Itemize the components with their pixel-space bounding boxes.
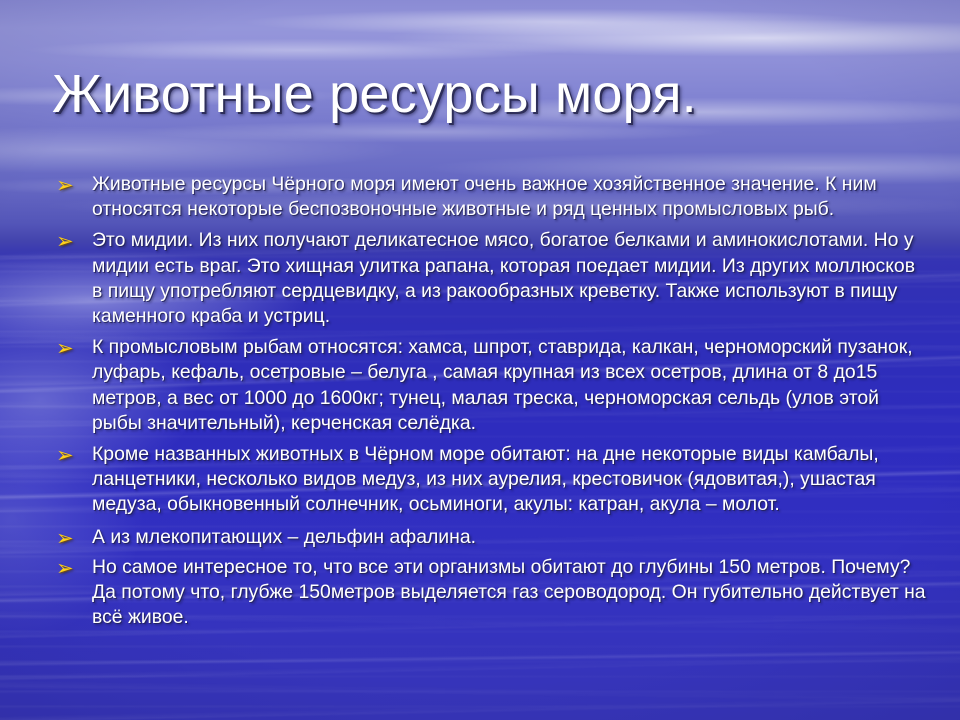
bullet-item-1: ➢ Животные ресурсы Чёрного моря имеют оч… [56, 172, 926, 222]
arrow-bullet-icon: ➢ [56, 172, 92, 198]
bullet-text-3: К промысловым рыбам относятся: хамса, шп… [92, 335, 926, 436]
bullet-item-2: ➢ Это мидии. Из них получают деликатесно… [56, 228, 926, 329]
presentation-slide: Животные ресурсы моря. ➢ Животные ресурс… [0, 0, 960, 720]
bullet-text-1: Животные ресурсы Чёрного моря имеют очен… [92, 172, 926, 222]
arrow-bullet-icon: ➢ [56, 335, 92, 361]
arrow-bullet-icon: ➢ [56, 442, 92, 468]
bullet-text-4: Кроме названных животных в Чёрном море о… [92, 442, 926, 518]
bullet-item-4: ➢ Кроме названных животных в Чёрном море… [56, 442, 926, 518]
bullet-item-3: ➢ К промысловым рыбам относятся: хамса, … [56, 335, 926, 436]
arrow-bullet-icon: ➢ [56, 555, 92, 581]
bullet-item-6: ➢ Но самое интересное то, что все эти ор… [56, 555, 926, 631]
bullet-text-2: Это мидии. Из них получают деликатесное … [92, 228, 926, 329]
slide-title: Животные ресурсы моря. [52, 66, 912, 123]
bullet-item-5: ➢ А из млекопитающих – дельфин афалина. [56, 525, 926, 551]
bullet-text-5: А из млекопитающих – дельфин афалина. [92, 525, 926, 550]
arrow-bullet-icon: ➢ [56, 228, 92, 254]
slide-body: ➢ Животные ресурсы Чёрного моря имеют оч… [56, 172, 926, 632]
arrow-bullet-icon: ➢ [56, 525, 92, 551]
bullet-text-6: Но самое интересное то, что все эти орга… [92, 555, 926, 631]
